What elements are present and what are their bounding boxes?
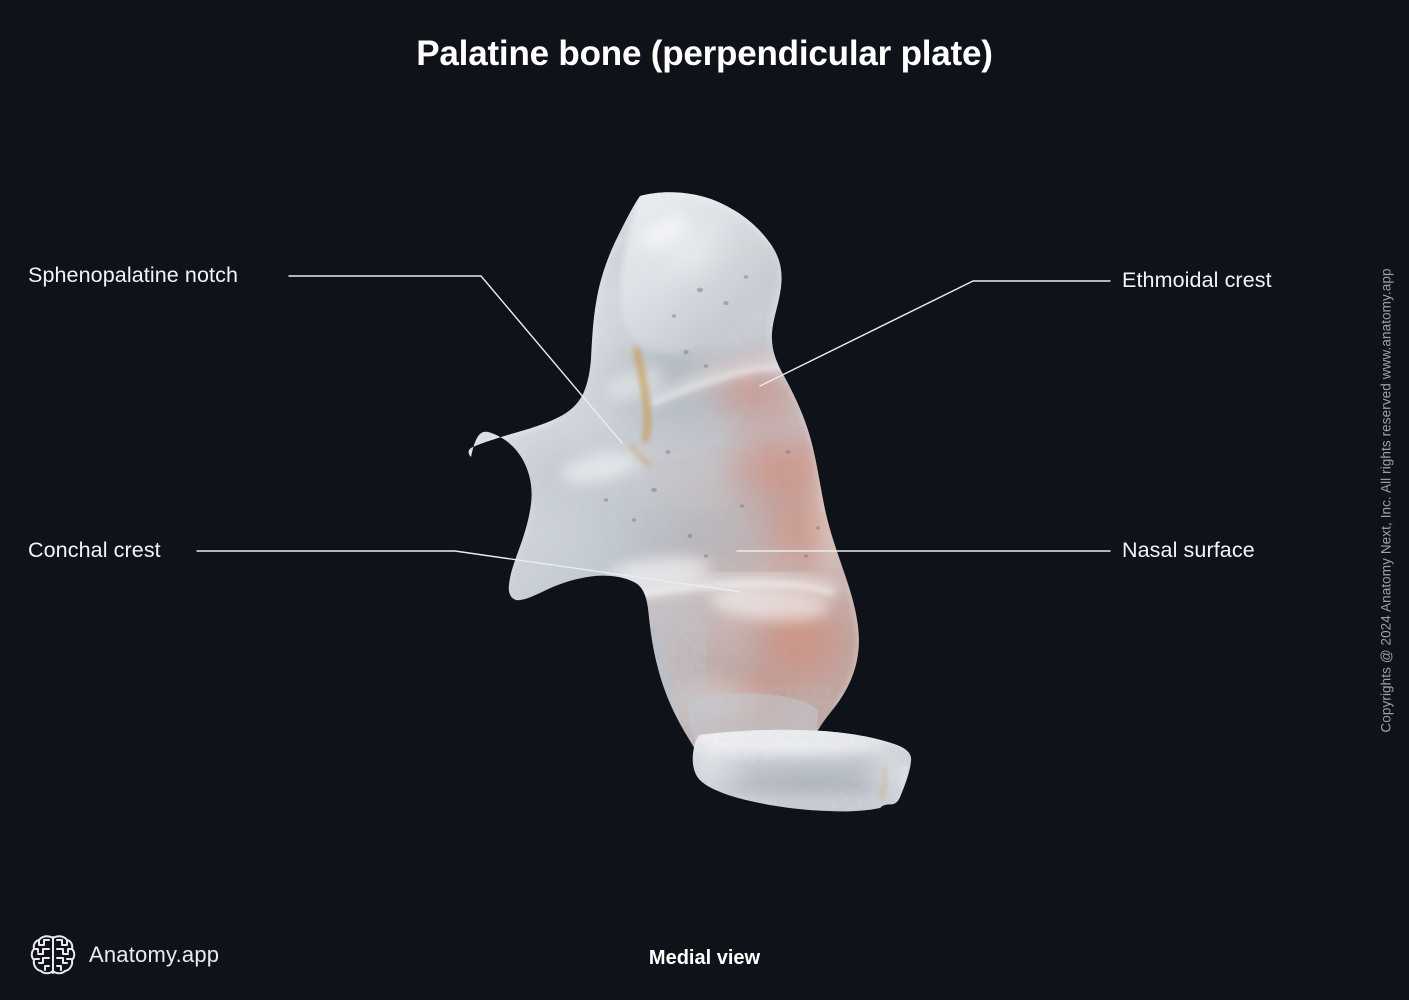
highlight-posterior-edge: [780, 286, 804, 374]
label-sphenopalatine-notch: Sphenopalatine notch: [28, 263, 238, 288]
horizontal-plate-fragment: [680, 720, 930, 830]
label-nasal-surface: Nasal surface: [1122, 538, 1255, 563]
copyright-text: Copyrights @ 2024 Anatomy Next, Inc. All…: [1379, 268, 1394, 732]
perpendicular-plate: [460, 180, 880, 780]
label-conchal-crest: Conchal crest: [28, 538, 161, 563]
brain-icon: [30, 932, 76, 978]
horizontal-plate-shadow: [714, 766, 886, 814]
brand-logo[interactable]: Anatomy.app: [30, 932, 219, 978]
label-ethmoidal-crest: Ethmoidal crest: [1122, 268, 1272, 293]
horizontal-plate-posterior-highlight: [874, 744, 918, 812]
anatomy-illustration-page: Palatine bone (perpendicular plate): [0, 0, 1409, 1000]
specimen-image: [0, 0, 1409, 1000]
leader-line-ethmoidal-crest: [760, 281, 1110, 386]
copyright-notice: Copyrights @ 2024 Anatomy Next, Inc. All…: [1369, 0, 1403, 1000]
brand-name: Anatomy.app: [89, 942, 219, 968]
